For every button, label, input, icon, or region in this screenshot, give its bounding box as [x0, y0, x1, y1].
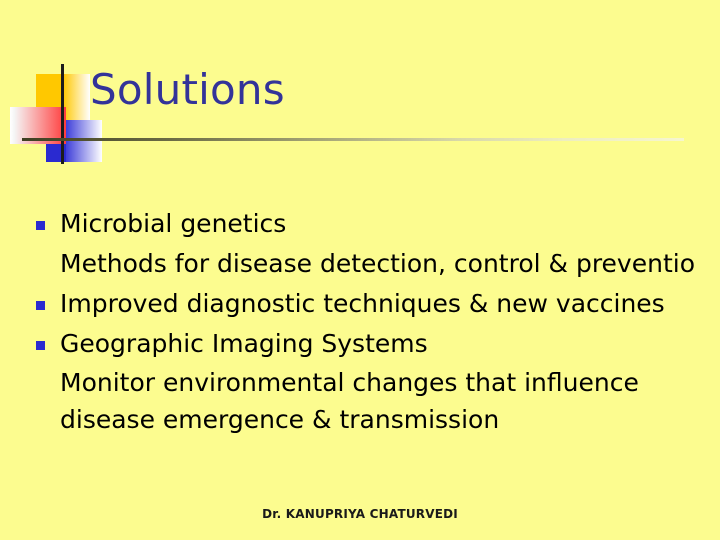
slide-title: Solutions [90, 69, 285, 111]
list-item: Geographic Imaging Systems [30, 324, 720, 364]
bullet-square-icon [36, 221, 45, 230]
list-item-label: Monitor environmental changes that influ… [60, 368, 639, 434]
list-item-label: Geographic Imaging Systems [60, 329, 428, 358]
list-item: Microbial genetics [30, 204, 720, 244]
title-divider [22, 138, 684, 141]
list-item-label: Microbial genetics [60, 209, 286, 238]
list-item-label: Methods for disease detection, control &… [60, 249, 695, 278]
logo-vertical-rule-icon [61, 64, 64, 164]
list-item: Methods for disease detection, control &… [30, 244, 720, 284]
list-item: Monitor environmental changes that influ… [30, 364, 720, 438]
slide-footer: Dr. KANUPRIYA CHATURVEDI [0, 507, 720, 521]
logo-gold-gradient-icon [63, 74, 90, 120]
list-item-label: Improved diagnostic techniques & new vac… [60, 289, 665, 318]
slide-body-list: Microbial genetics Methods for disease d… [30, 204, 720, 438]
presentation-slide: Solutions Microbial genetics Methods for… [0, 0, 720, 540]
list-item: Improved diagnostic techniques & new vac… [30, 284, 720, 324]
bullet-square-icon [36, 341, 45, 350]
bullet-square-icon [36, 301, 45, 310]
